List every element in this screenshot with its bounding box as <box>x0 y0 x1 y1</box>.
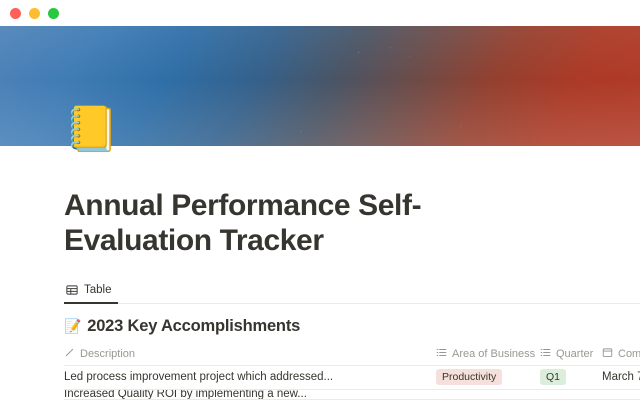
traffic-light-group <box>10 8 59 19</box>
tag-area-of-business: Productivity <box>436 369 502 385</box>
date-icon <box>602 347 613 361</box>
column-header-completion-date[interactable]: Com <box>602 347 640 361</box>
column-header-quarter-label: Quarter <box>556 348 593 360</box>
table-row[interactable]: Increased Quality ROI by implementing a … <box>64 390 640 400</box>
cell-quarter[interactable]: Q1 <box>540 369 602 385</box>
section-heading[interactable]: 📝 2023 Key Accomplishments <box>64 317 640 336</box>
cell-completion-date[interactable]: March 7 <box>602 371 640 383</box>
pencil-icon <box>64 347 75 361</box>
column-header-description[interactable]: Description <box>64 347 436 361</box>
table-row[interactable]: Led process improvement project which ad… <box>64 366 640 390</box>
tab-table[interactable]: Table <box>64 284 118 304</box>
page-content: Annual Performance Self-Evaluation Track… <box>0 188 640 400</box>
column-header-area-of-business[interactable]: Area of Business <box>436 347 540 361</box>
column-header-area-of-business-label: Area of Business <box>452 348 535 360</box>
multi-select-icon <box>540 347 551 361</box>
cell-description[interactable]: Increased Quality ROI by implementing a … <box>64 390 436 400</box>
column-header-description-label: Description <box>80 348 135 360</box>
minimize-button[interactable] <box>29 8 40 19</box>
memo-emoji-icon: 📝 <box>64 319 81 333</box>
section-heading-label: 2023 Key Accomplishments <box>87 317 300 336</box>
table-icon <box>66 284 78 296</box>
tab-table-label: Table <box>84 284 112 296</box>
window-titlebar <box>0 0 640 26</box>
page-title[interactable]: Annual Performance Self-Evaluation Track… <box>64 188 534 259</box>
tag-quarter: Q1 <box>540 369 566 385</box>
notebook-emoji-icon[interactable]: 📒 <box>64 104 116 156</box>
column-header-completion-date-label: Com <box>618 348 640 360</box>
cell-description[interactable]: Led process improvement project which ad… <box>64 371 436 383</box>
multi-select-icon <box>436 347 447 361</box>
table-header-row: Description Area of Business <box>64 344 640 366</box>
close-button[interactable] <box>10 8 21 19</box>
maximize-button[interactable] <box>48 8 59 19</box>
database-table: Description Area of Business <box>64 344 640 400</box>
column-header-quarter[interactable]: Quarter <box>540 347 602 361</box>
view-tab-bar: Table <box>64 277 640 304</box>
cell-area-of-business[interactable]: Productivity <box>436 369 540 385</box>
